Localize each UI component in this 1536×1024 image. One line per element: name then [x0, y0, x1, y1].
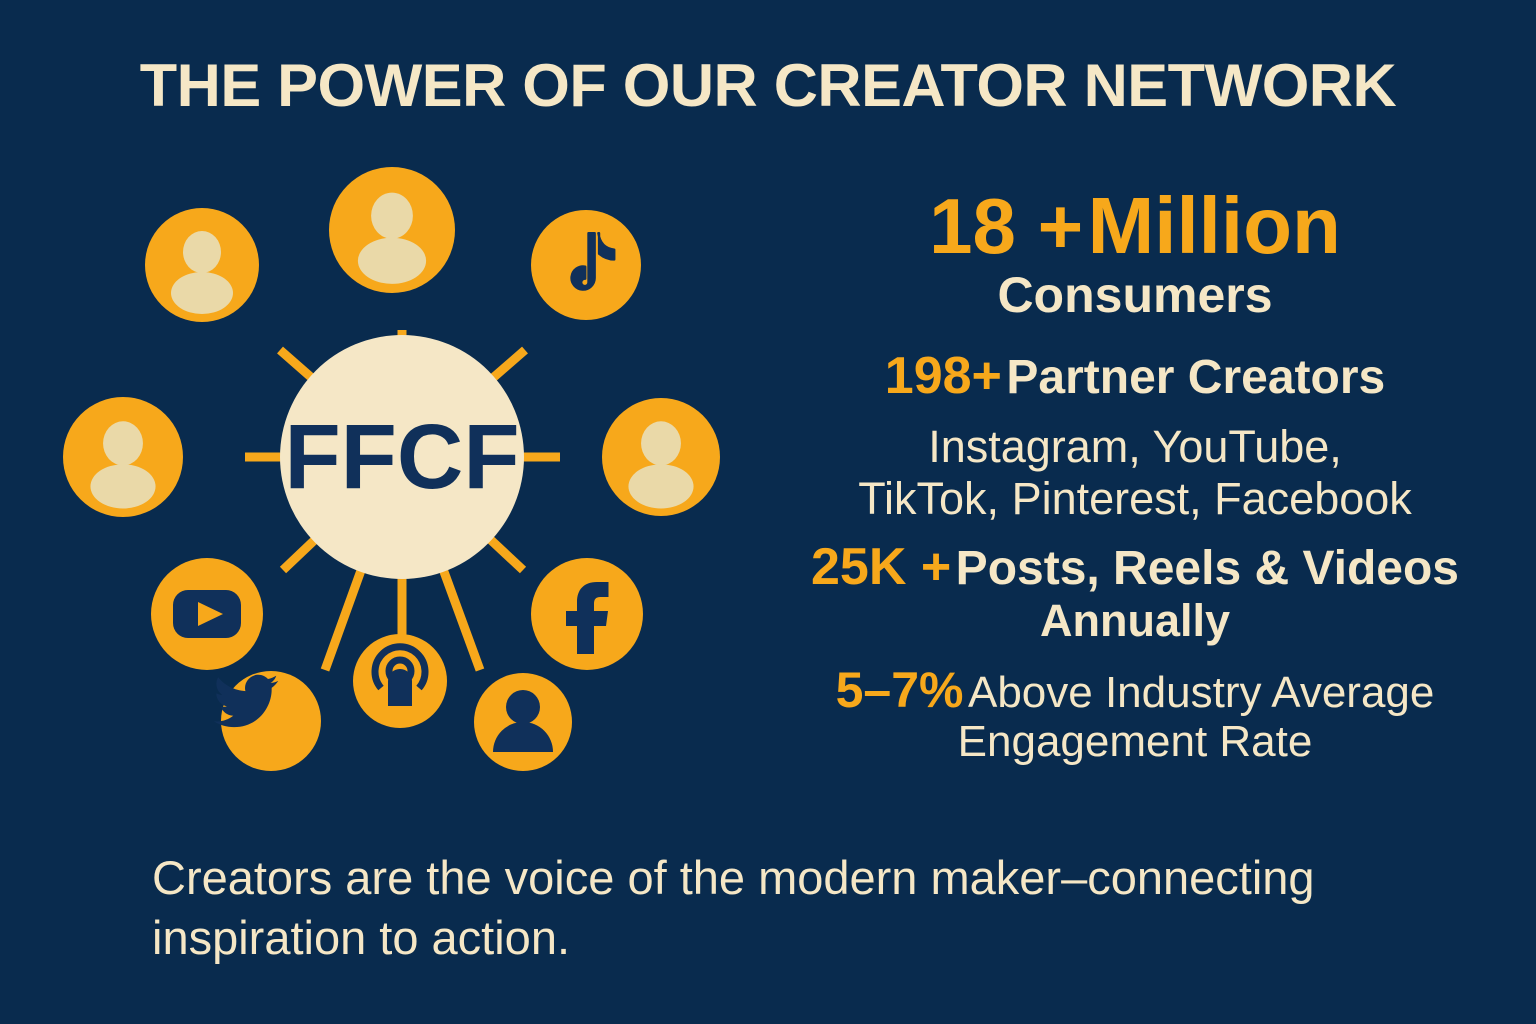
platform-list: Instagram, YouTube, TikTok, Pinterest, F…: [775, 421, 1495, 524]
stat-creators: 198+ Partner Creators: [775, 347, 1495, 405]
creators-label: Partner Creators: [1006, 351, 1385, 404]
node-podcast[interactable]: [353, 634, 447, 728]
creators-number: 198+: [885, 347, 1002, 405]
consumers-number: 18 +: [929, 182, 1083, 270]
consumers-label: Consumers: [775, 268, 1495, 323]
stat-posts: 25K + Posts, Reels & Videos Annually: [775, 538, 1495, 646]
node-twitter[interactable]: [214, 671, 321, 771]
creator-network-diagram: FFCF: [55, 150, 775, 840]
node-facebook[interactable]: [531, 558, 643, 670]
stat-engagement: 5–7% Above Industry Average Engagement R…: [775, 662, 1495, 766]
podcast-body: [388, 669, 412, 706]
posts-sublabel: Annually: [775, 596, 1495, 646]
consumers-unit: Million: [1088, 181, 1341, 270]
engagement-number: 5–7%: [836, 662, 964, 718]
page-title: THE POWER OF OUR CREATOR NETWORK: [0, 56, 1536, 116]
youtube-icon: [173, 590, 241, 638]
node-tiktok[interactable]: [531, 210, 641, 320]
platform-line-2: TikTok, Pinterest, Facebook: [775, 473, 1495, 524]
stat-consumers: 18 + Million Consumers: [775, 186, 1495, 323]
hub-circle: FFCF: [280, 335, 524, 579]
platform-line-1: Instagram, YouTube,: [775, 421, 1495, 472]
node-person-avatar-top[interactable]: [329, 167, 455, 293]
node-youtube[interactable]: [151, 558, 263, 670]
consumers-headline: 18 + Million: [775, 186, 1495, 266]
node-person-avatar-top-left[interactable]: [145, 208, 259, 322]
tagline: Creators are the voice of the modern mak…: [152, 848, 1472, 968]
hub-label: FFCF: [284, 406, 519, 508]
engagement-sublabel: Engagement Rate: [775, 718, 1495, 766]
node-person-outline[interactable]: [474, 673, 572, 771]
stats-panel: 18 + Million Consumers 198+ Partner Crea…: [775, 186, 1495, 770]
engagement-label: Above Industry Average: [968, 668, 1434, 717]
posts-label: Posts, Reels & Videos: [956, 542, 1459, 595]
node-person-avatar-left[interactable]: [63, 397, 183, 517]
node-person-avatar-right[interactable]: [602, 398, 720, 516]
posts-number: 25K +: [811, 538, 951, 596]
